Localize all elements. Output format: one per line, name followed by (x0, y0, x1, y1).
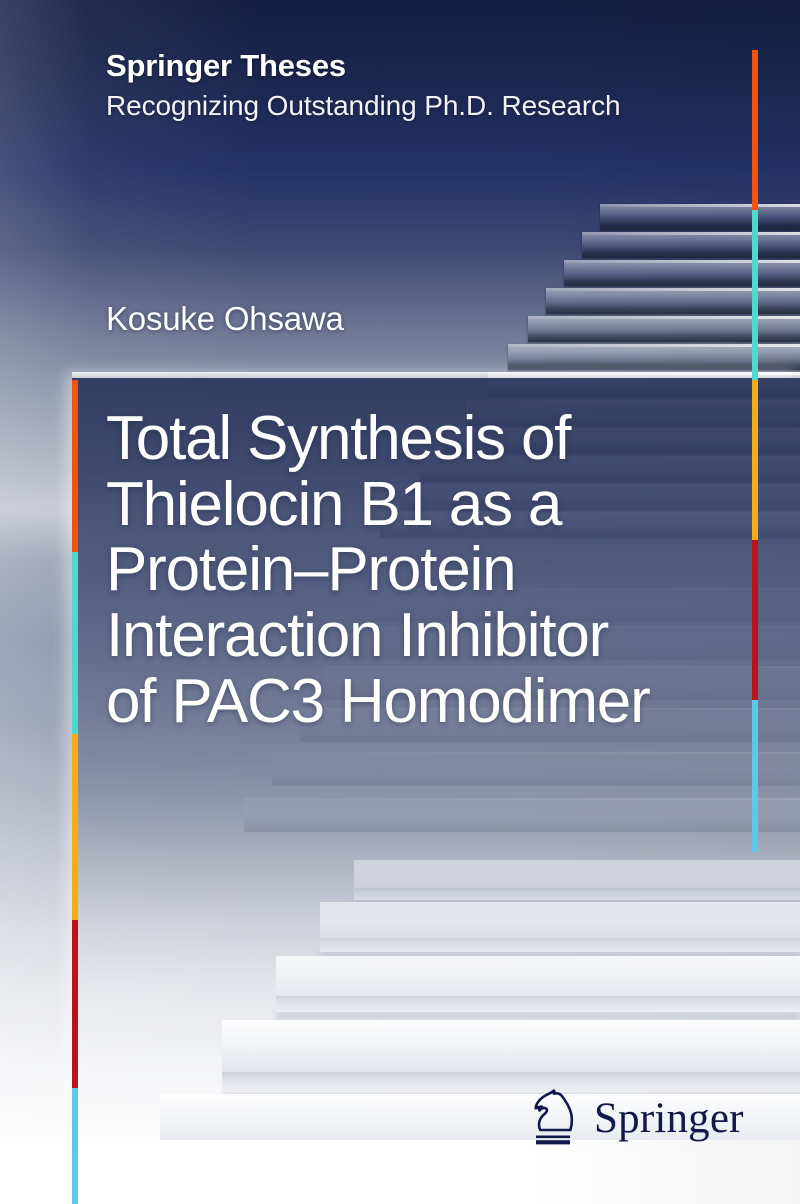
book-cover: Springer Theses Recognizing Outstanding … (0, 0, 800, 1204)
stair-tread-4 (546, 288, 800, 314)
book-title-line-4: Interaction Inhibitor (106, 603, 766, 669)
bar-right-segment-cyan (752, 210, 758, 380)
bar-left-segment-orange (72, 380, 78, 552)
left-color-bar (72, 0, 78, 1204)
book-title-line-5: of PAC3 Homodimer (106, 669, 766, 735)
book-title-line-3: Protein–Protein (106, 537, 766, 603)
stair-tread-5 (528, 316, 800, 342)
book-title: Total Synthesis ofThielocin B1 as aProte… (106, 406, 766, 735)
publisher-logo: Springer (528, 1085, 743, 1151)
series-header: Springer Theses Recognizing Outstanding … (106, 48, 726, 122)
bar-left-segment-red (72, 920, 78, 1088)
series-tagline: Recognizing Outstanding Ph.D. Research (106, 89, 726, 123)
book-title-line-1: Total Synthesis of (106, 406, 766, 472)
publisher-name: Springer (594, 1097, 744, 1140)
series-name: Springer Theses (106, 48, 726, 85)
stair-tread-1 (600, 204, 800, 230)
springer-knight-icon (528, 1089, 582, 1147)
stair-tread-2 (582, 232, 800, 258)
bar-right-segment-orange (752, 50, 758, 210)
stair-tread-3 (564, 260, 800, 286)
bar-left-segment-cyan (72, 552, 78, 734)
bar-left-segment-amber (72, 734, 78, 920)
book-title-line-2: Thielocin B1 as a (106, 472, 766, 538)
bar-left-segment-lightblue (72, 1088, 78, 1204)
author-name: Kosuke Ohsawa (106, 300, 344, 338)
